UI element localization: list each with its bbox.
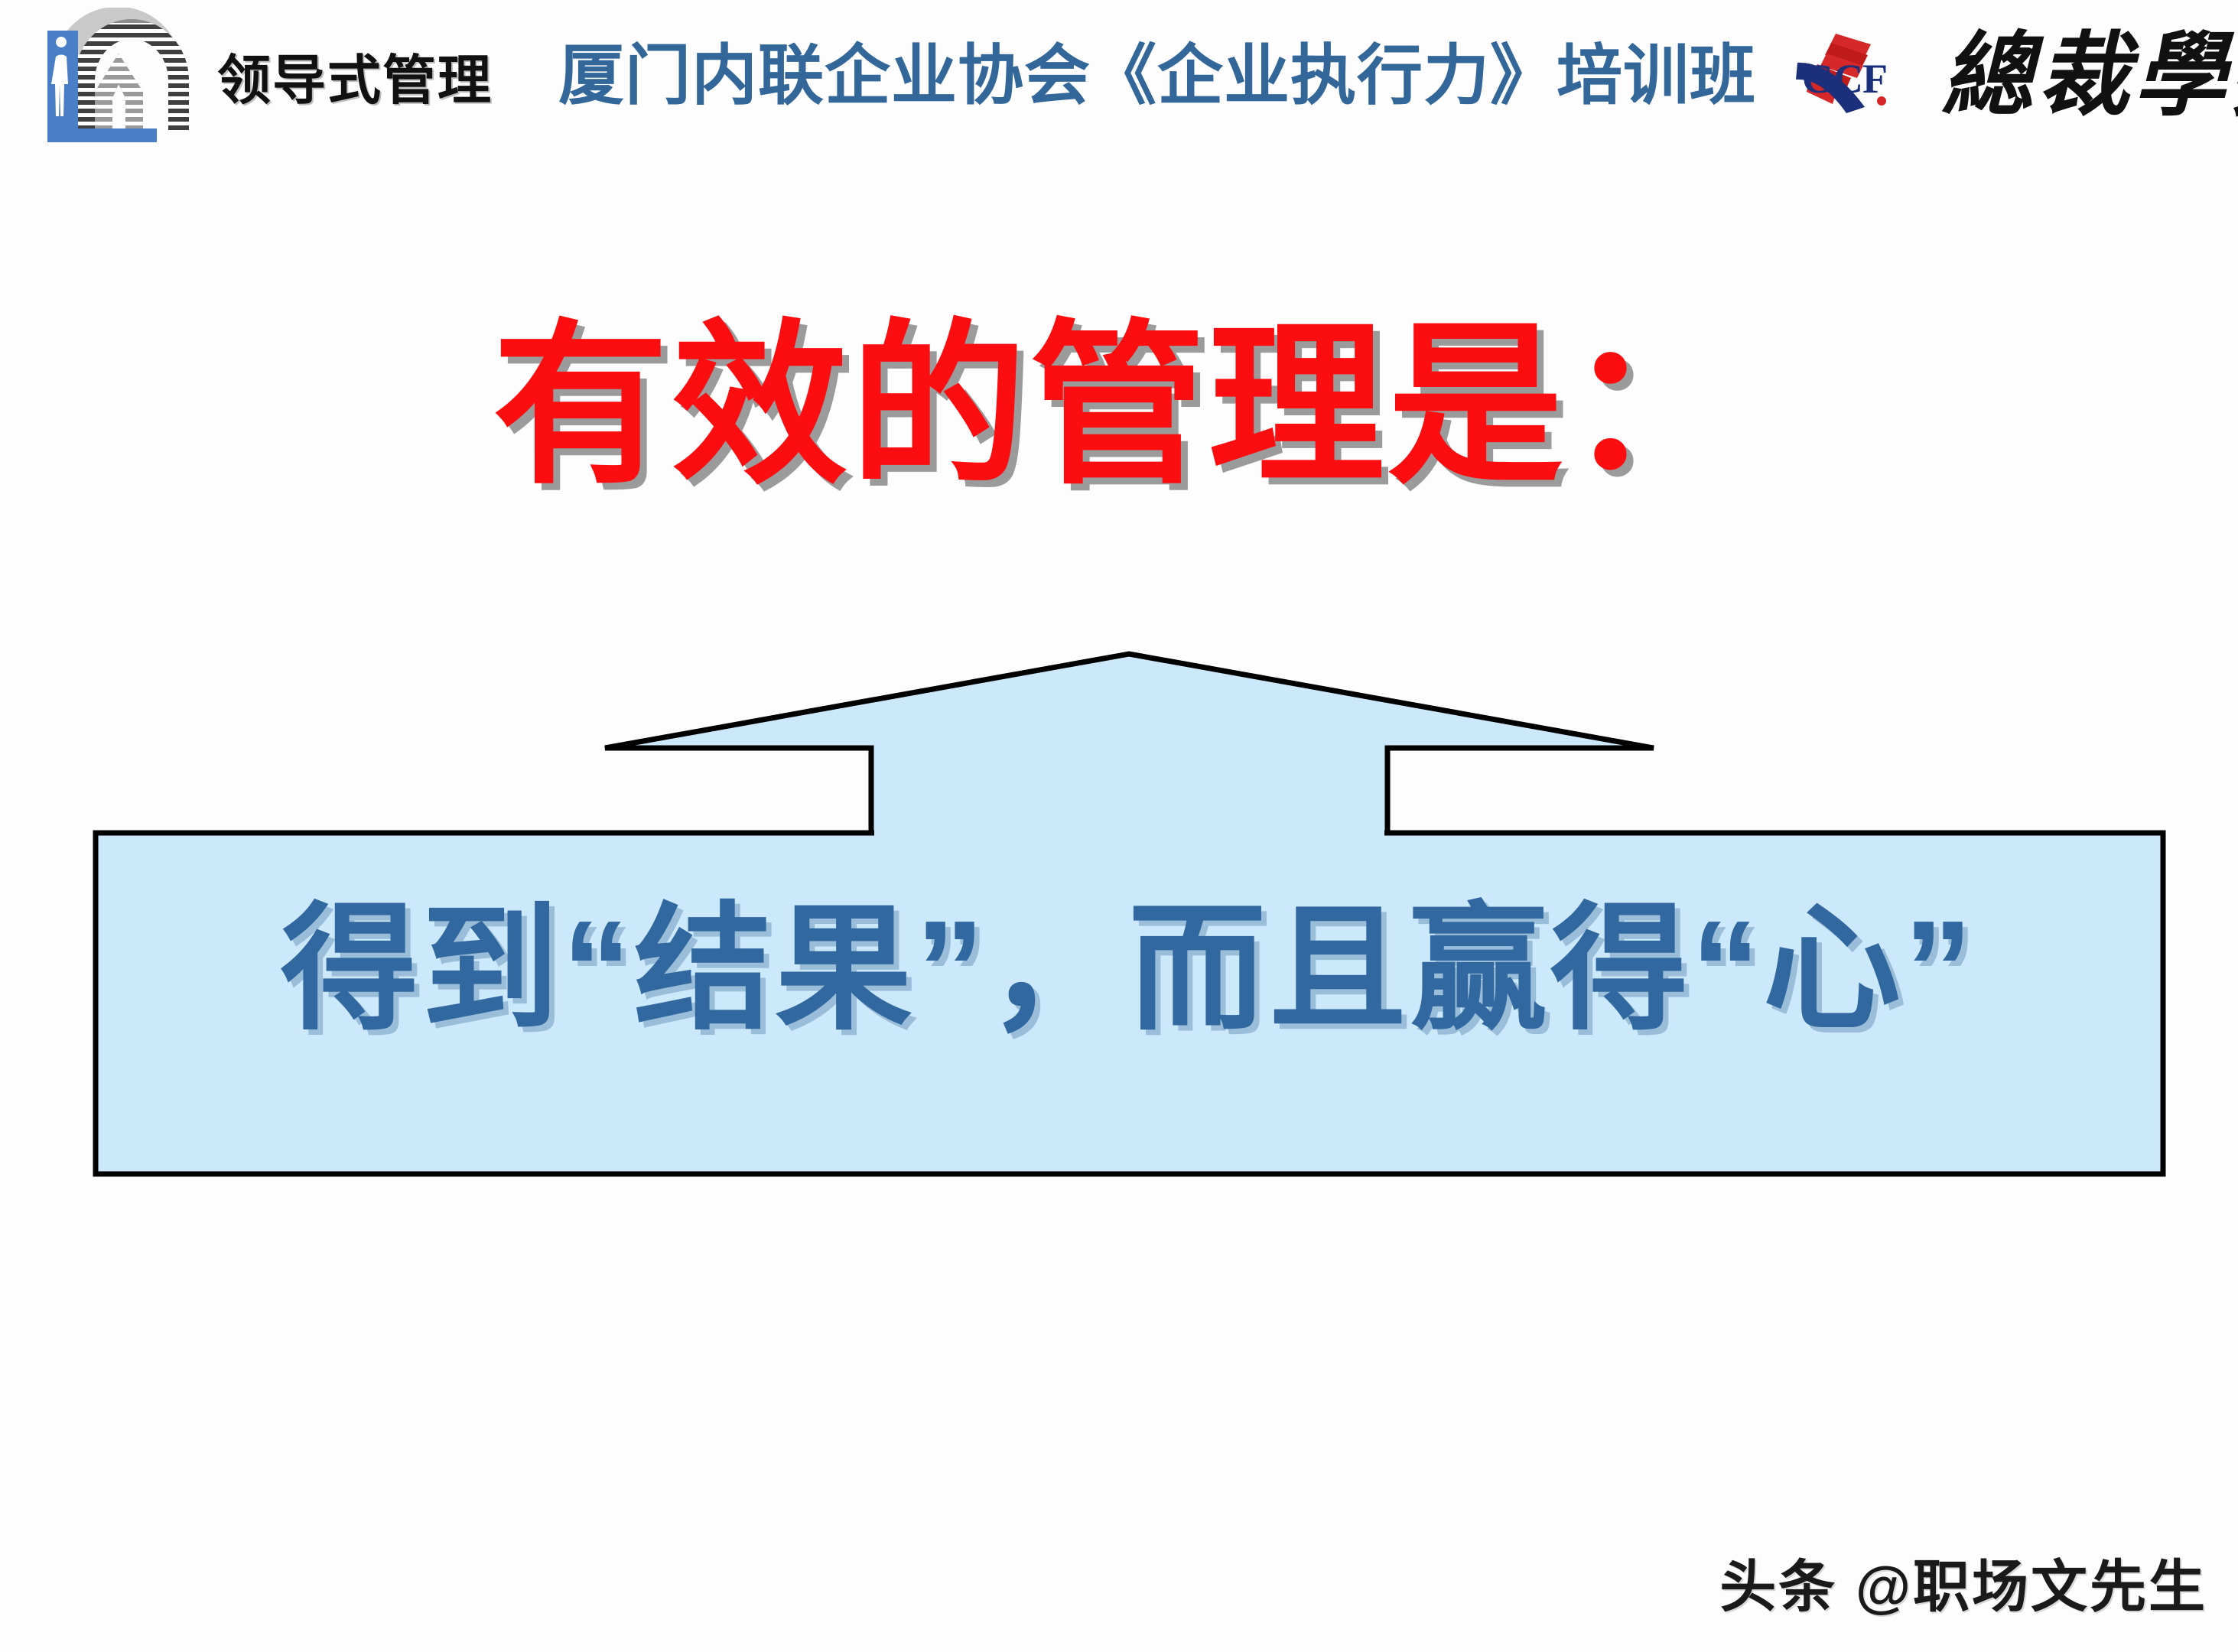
header-title: 厦门内联企业协会《企业执行力》培训班	[558, 40, 1752, 112]
watermark: 头条 @职场文先生	[1719, 1541, 2207, 1623]
up-arrow-icon	[605, 654, 1654, 833]
arrow-and-callout-diagram	[0, 0, 2238, 1652]
gcf-acronym: GCF	[1802, 55, 1887, 102]
left-brand-label: 领导式管理	[217, 54, 493, 107]
leadership-building-logo-icon	[31, 8, 207, 153]
right-brand-logo: GCF 總裁學苑	[1796, 11, 2224, 148]
left-brand-logo: 领导式管理	[31, 8, 493, 153]
slide-header: 领导式管理 厦门内联企业协会《企业执行力》培训班 GCF 總裁學苑	[0, 0, 2238, 161]
right-brand-label: 總裁學苑	[1941, 17, 2238, 136]
page-title: 有效的管理是：	[0, 302, 2238, 509]
callout-box-text: 得到“结果”，而且赢得“心”	[99, 887, 2157, 1052]
